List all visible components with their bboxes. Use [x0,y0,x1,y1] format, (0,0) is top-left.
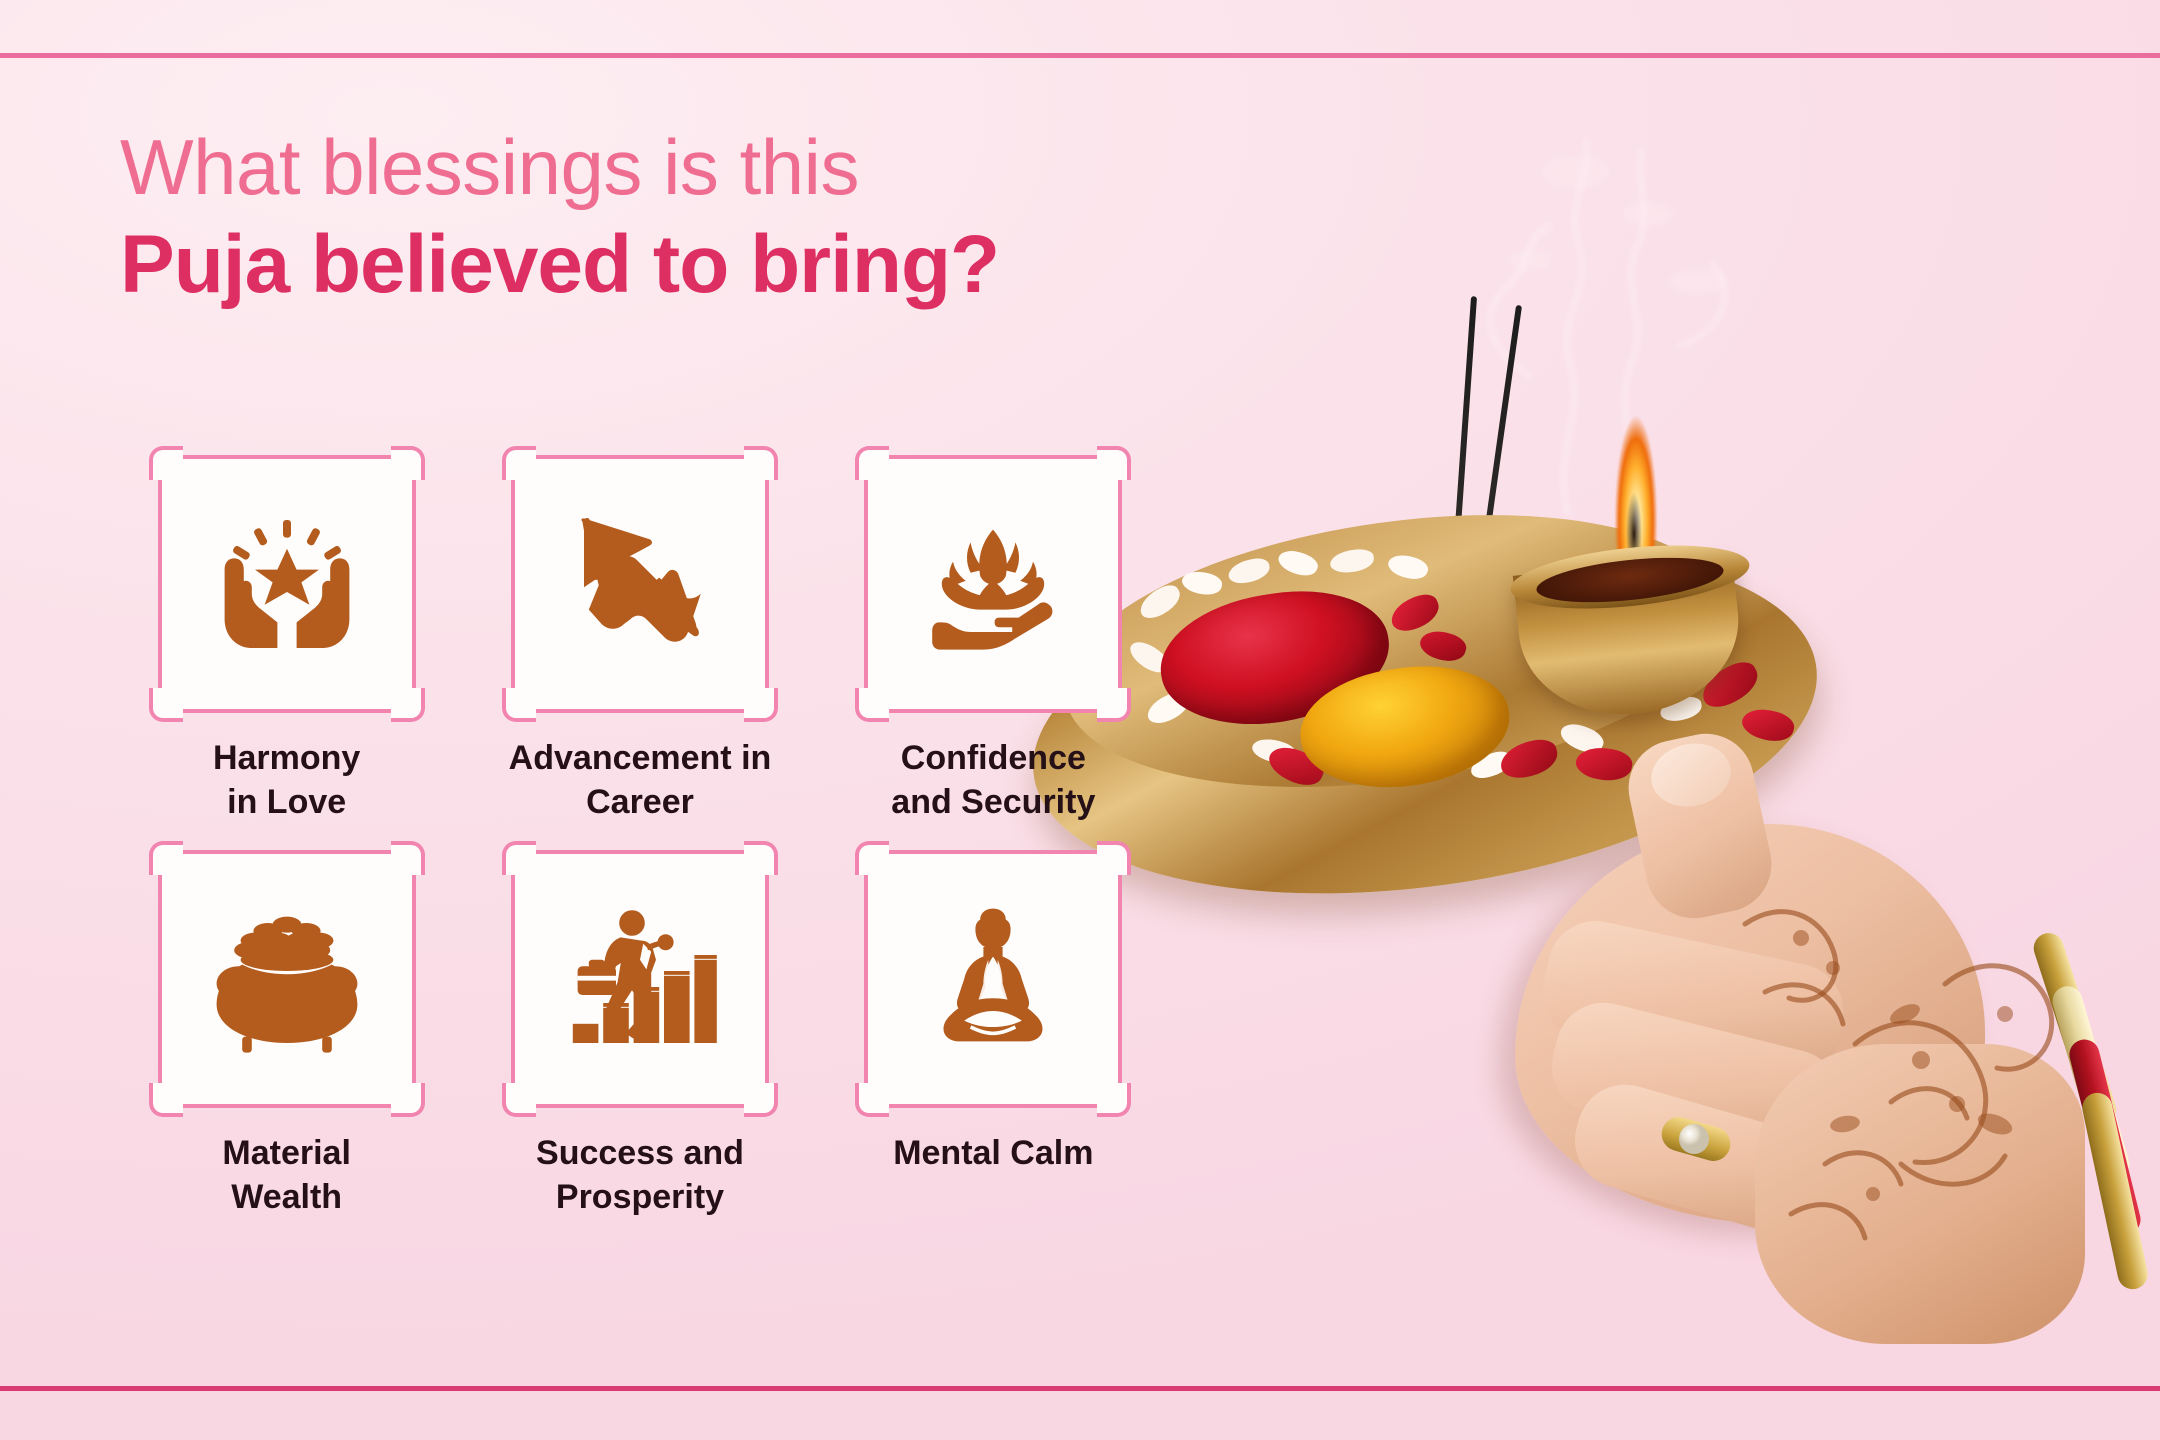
corner-notch [1097,688,1131,722]
blessing-icon-card[interactable] [864,850,1122,1108]
corner-notch [1097,841,1131,875]
corner-notch [1097,1083,1131,1117]
blessing-item-advancement-in-career[interactable]: Advancement in Career [463,455,816,824]
corner-notch [391,1083,425,1117]
corner-notch [744,688,778,722]
blessing-item-success-and-prosperity[interactable]: Success and Prosperity [463,850,816,1219]
poster-canvas: What blessings is this Puja believed to … [0,0,2160,1440]
corner-notch [149,841,183,875]
corner-notch [855,688,889,722]
upward-zigzag-arrow-icon [560,504,720,664]
page-title: What blessings is this Puja believed to … [120,128,1400,306]
headline-line-2: Puja believed to bring? [120,224,1400,306]
blessing-label: Success and Prosperity [490,1132,790,1219]
blessing-icon-card[interactable] [511,850,769,1108]
corner-notch [149,1083,183,1117]
corner-notch [391,446,425,480]
blessing-item-material-wealth[interactable]: Material Wealth [110,850,463,1219]
corner-notch [502,446,536,480]
blessing-icon-card[interactable] [864,455,1122,713]
blessing-label: Advancement in Career [490,737,790,824]
incense-smoke [1380,56,1800,516]
corner-notch [149,446,183,480]
blessing-label: Confidence and Security [843,737,1143,824]
corner-notch [391,841,425,875]
corner-notch [149,688,183,722]
blessing-item-mental-calm[interactable]: Mental Calm [817,850,1170,1219]
blessings-grid: Harmony in Love Advancement in Caree [110,455,1170,1219]
businessman-climbing-bar-chart-icon [560,899,720,1059]
headline-line-1: What blessings is this [120,128,1400,206]
blessing-icon-card[interactable] [158,455,416,713]
ring-stone [1679,1124,1709,1154]
meditating-figure-icon [913,899,1073,1059]
pot-of-coins-icon [207,899,367,1059]
blessing-icon-card[interactable] [158,850,416,1108]
bottom-divider-rule [0,1386,2160,1391]
blessing-item-confidence-and-security[interactable]: Confidence and Security [817,455,1170,824]
hand-holding-thali [1455,714,2055,1334]
corner-notch [502,1083,536,1117]
corner-notch [855,1083,889,1117]
hands-holding-star-icon [207,504,367,664]
blessing-icon-card[interactable] [511,455,769,713]
corner-notch [391,688,425,722]
blessing-label: Material Wealth [137,1132,437,1219]
corner-notch [502,841,536,875]
corner-notch [502,688,536,722]
corner-notch [744,1083,778,1117]
mehndi-pattern [1705,864,2105,1284]
corner-notch [1097,446,1131,480]
corner-notch [855,446,889,480]
corner-notch [744,841,778,875]
corner-notch [744,446,778,480]
corner-notch [855,841,889,875]
hand-holding-lotus-icon [913,504,1073,664]
blessing-item-harmony-in-love[interactable]: Harmony in Love [110,455,463,824]
thali-assembly [1000,486,2160,1386]
blessing-label: Mental Calm [843,1132,1143,1176]
blessing-label: Harmony in Love [137,737,437,824]
